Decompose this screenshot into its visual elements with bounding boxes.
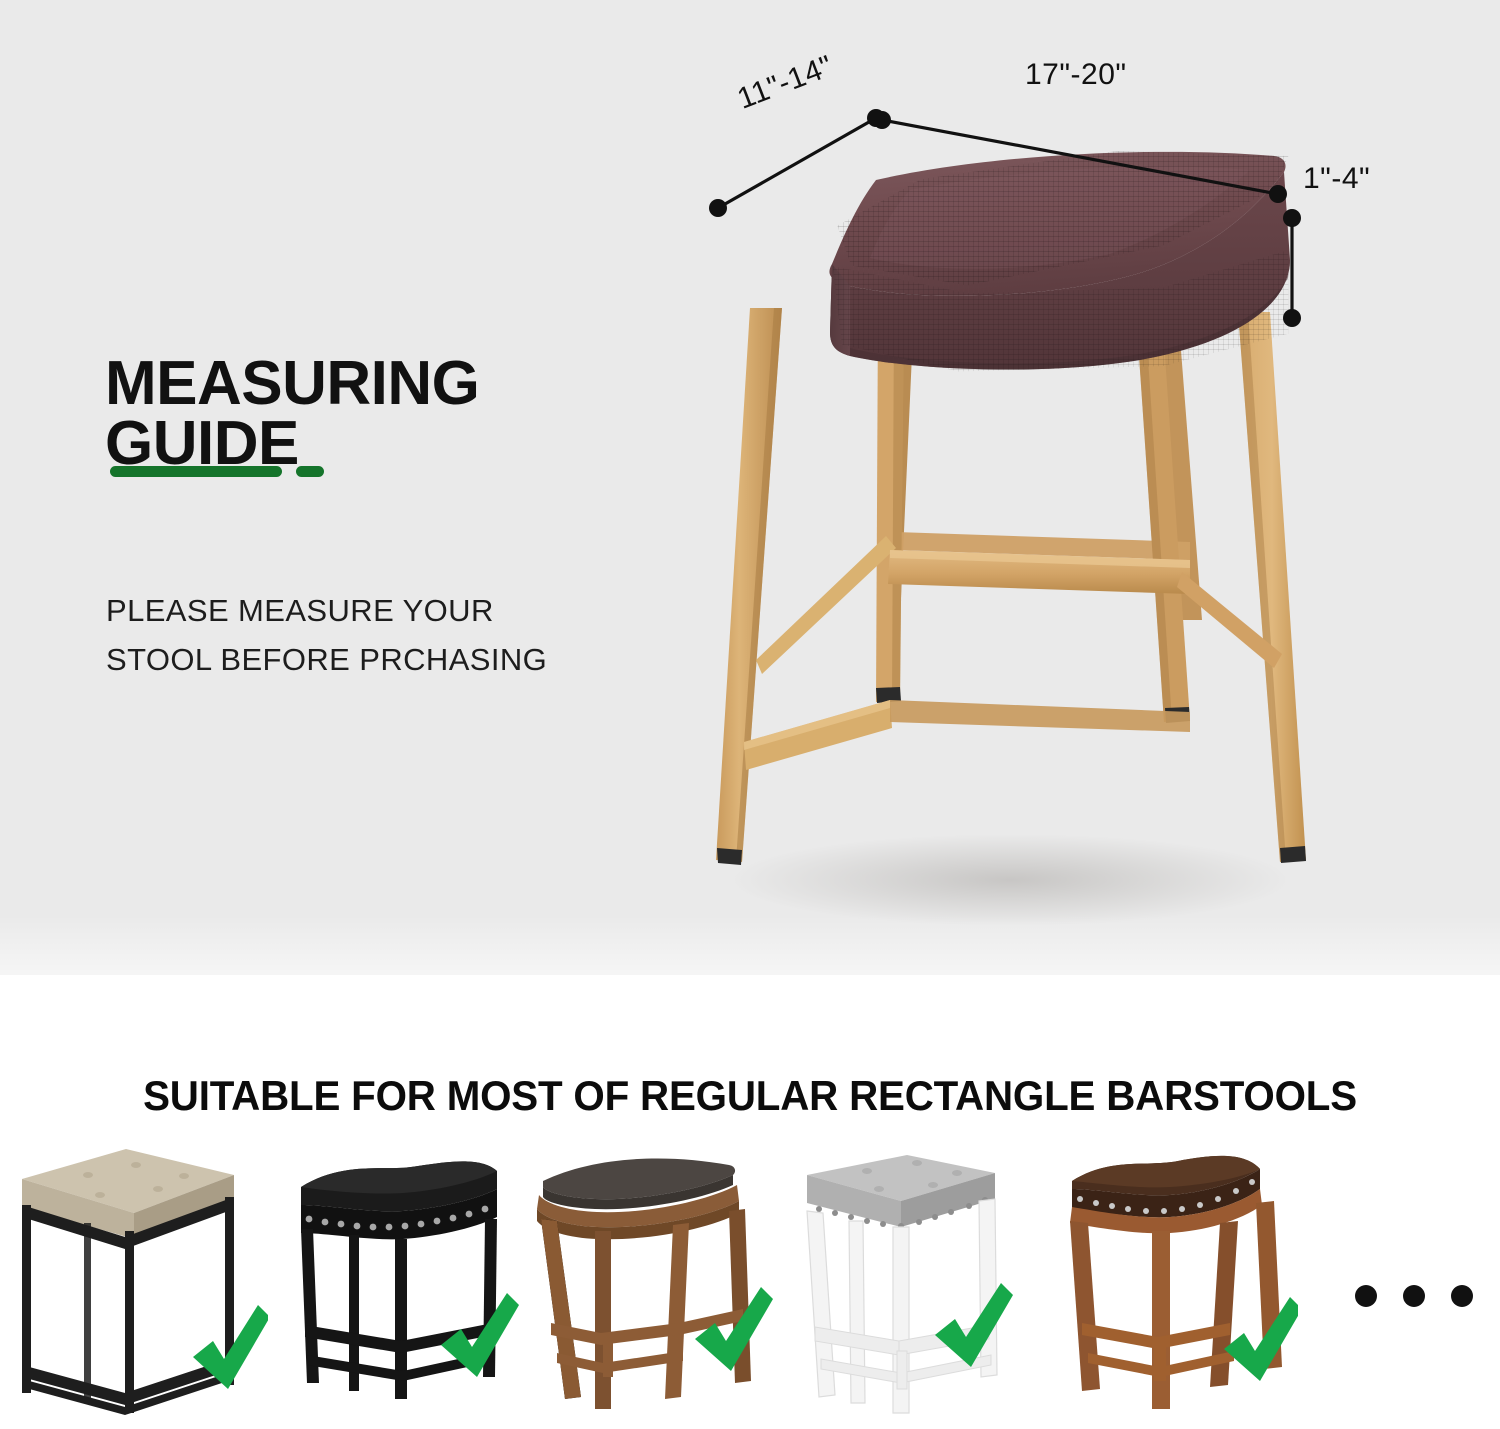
accent-dash	[296, 466, 324, 477]
stool-thumb-3	[533, 1127, 793, 1417]
main-stool-illustration	[690, 60, 1330, 950]
stool-thumb-1	[8, 1127, 268, 1417]
compatible-stools-panel: SUITABLE FOR MOST OF REGULAR RECTANGLE B…	[0, 975, 1500, 1429]
check-icon	[935, 1283, 1013, 1367]
instruction-text: PLEASE MEASURE YOUR STOOL BEFORE PRCHASI…	[106, 587, 666, 685]
accent-underline	[110, 466, 340, 478]
stool-thumb-4	[783, 1127, 1043, 1417]
stool-thumb-5	[1038, 1127, 1298, 1417]
dimension-width-label: 17"-20"	[1025, 58, 1127, 92]
accent-bar	[110, 466, 282, 477]
ellipsis-dot	[1355, 1285, 1377, 1307]
black-leather-nailhead-stool-icon	[283, 1127, 543, 1417]
measuring-guide-panel: MEASURING GUIDE PLEASE MEASURE YOUR STOO…	[0, 0, 1500, 975]
brown-leather-cherry-wood-stool-icon	[1038, 1127, 1298, 1417]
gray-fabric-white-wood-stool-icon	[783, 1127, 1043, 1417]
stool-thumbnail-row	[0, 1127, 1500, 1417]
page-title: MEASURING GUIDE	[105, 354, 479, 476]
infographic-stage: MEASURING GUIDE PLEASE MEASURE YOUR STOO…	[0, 0, 1500, 1429]
more-stools-ellipsis	[1355, 1285, 1473, 1307]
section-title: SUITABLE FOR MOST OF REGULAR RECTANGLE B…	[30, 1072, 1470, 1120]
ellipsis-dot	[1451, 1285, 1473, 1307]
ellipsis-dot	[1403, 1285, 1425, 1307]
beige-cushion-black-metal-stool-icon	[8, 1127, 268, 1417]
stool-thumb-2	[283, 1127, 543, 1417]
stool-svg	[690, 60, 1330, 950]
gray-cushion-brown-wood-stool-icon	[533, 1127, 793, 1417]
check-icon	[1224, 1297, 1298, 1381]
dimension-height-label: 1"-4"	[1303, 162, 1370, 196]
